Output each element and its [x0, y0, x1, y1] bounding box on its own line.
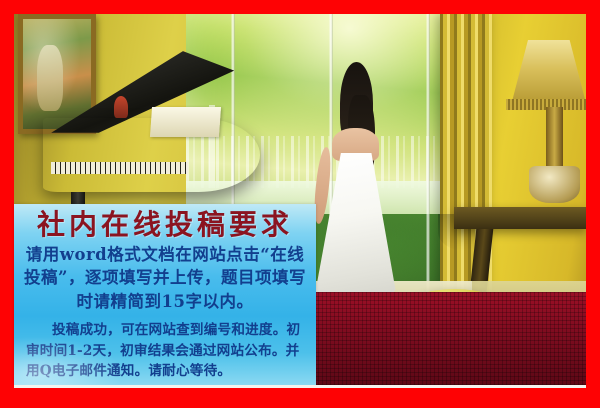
notice-title: 社内在线投稿要求 — [20, 208, 310, 241]
console-table — [454, 207, 586, 229]
flower-vase — [114, 96, 128, 118]
lamp-base — [529, 166, 580, 203]
piano-keys — [51, 162, 188, 174]
sheet-music — [150, 107, 221, 137]
framed-artwork — [23, 19, 91, 129]
poster-frame: 社内在线投稿要求 请用word格式文档在网站点击“在线投稿”，逐项填写并上传，题… — [0, 0, 600, 408]
red-patterned-carpet — [294, 292, 586, 385]
lamp-stem — [546, 107, 563, 174]
notice-paragraph-secondary: 投稿成功，可在网站查到编号和进度。初审时间1-2天，初审结果会通过网站公布。并用… — [20, 320, 310, 381]
bottom-white-strip — [14, 385, 586, 388]
notice-panel: 社内在线投稿要求 请用word格式文档在网站点击“在线投稿”，逐项填写并上传，题… — [14, 204, 316, 385]
notice-paragraph-primary: 请用word格式文档在网站点击“在线投稿”，逐项填写并上传，题目项填写时请精简到… — [20, 243, 310, 313]
